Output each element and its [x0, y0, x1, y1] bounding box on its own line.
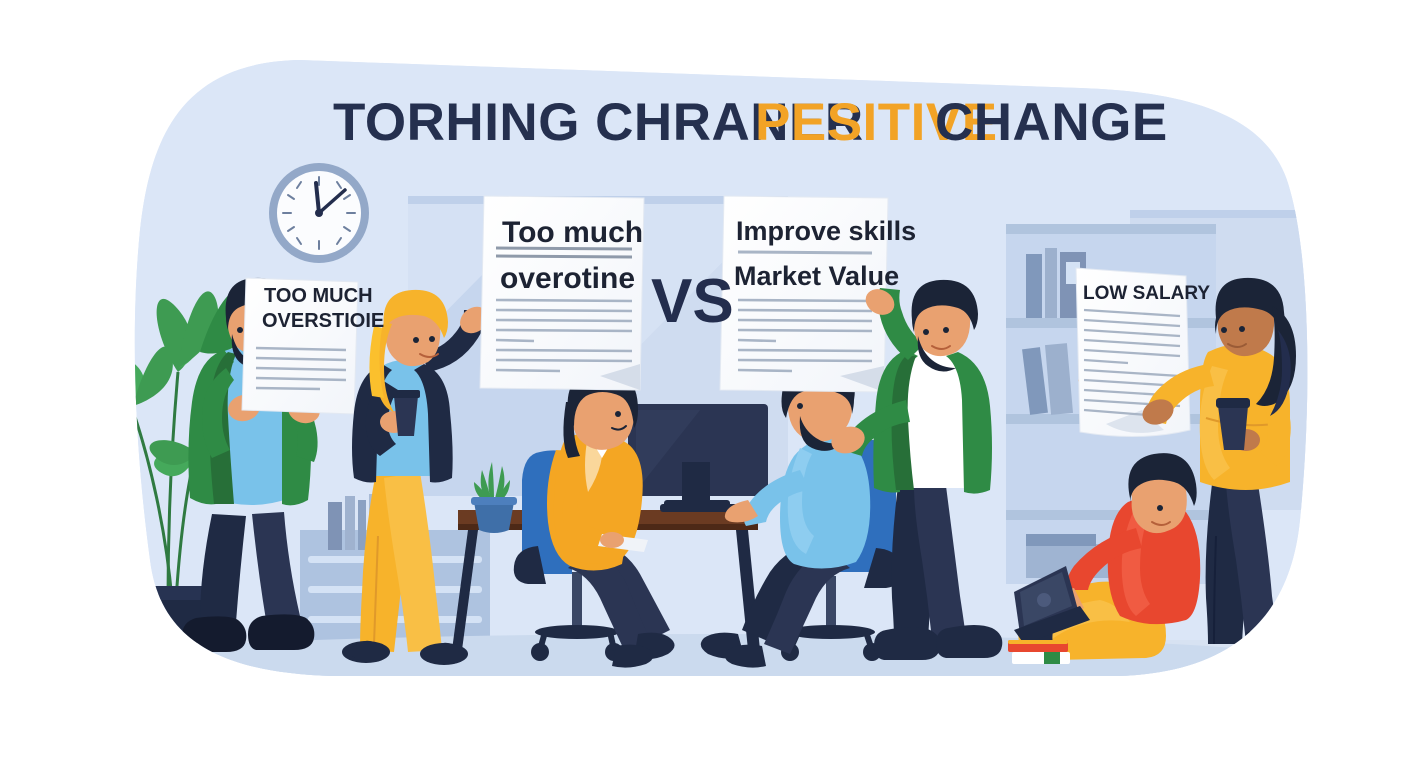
title-part-3: CHANGE	[935, 93, 1168, 152]
scene-contents	[100, 60, 1320, 686]
office-scene-illustration: TORHING CHRANER PESITIVE CHANGE VS TOO M…	[0, 0, 1408, 768]
poster-4-line-1: LOW SALARY	[1083, 283, 1210, 304]
poster-3-line-1: Improve skills	[736, 216, 916, 246]
illustration-canvas: TORHING CHRANER PESITIVE CHANGE VS TOO M…	[0, 0, 1408, 768]
poster-2-line-2: overotine	[500, 262, 635, 295]
wall-clock	[269, 163, 369, 263]
versus-label: VS	[651, 267, 734, 336]
book-stack	[1008, 640, 1070, 664]
poster-2-line-1: Too much	[502, 216, 643, 249]
poster-3-line-2: Market Value	[734, 261, 899, 291]
monitor	[628, 404, 768, 510]
poster-1-line-2: OVERSTIOIE	[262, 310, 384, 332]
poster-1-line-1: TOO MUCH	[264, 285, 373, 307]
